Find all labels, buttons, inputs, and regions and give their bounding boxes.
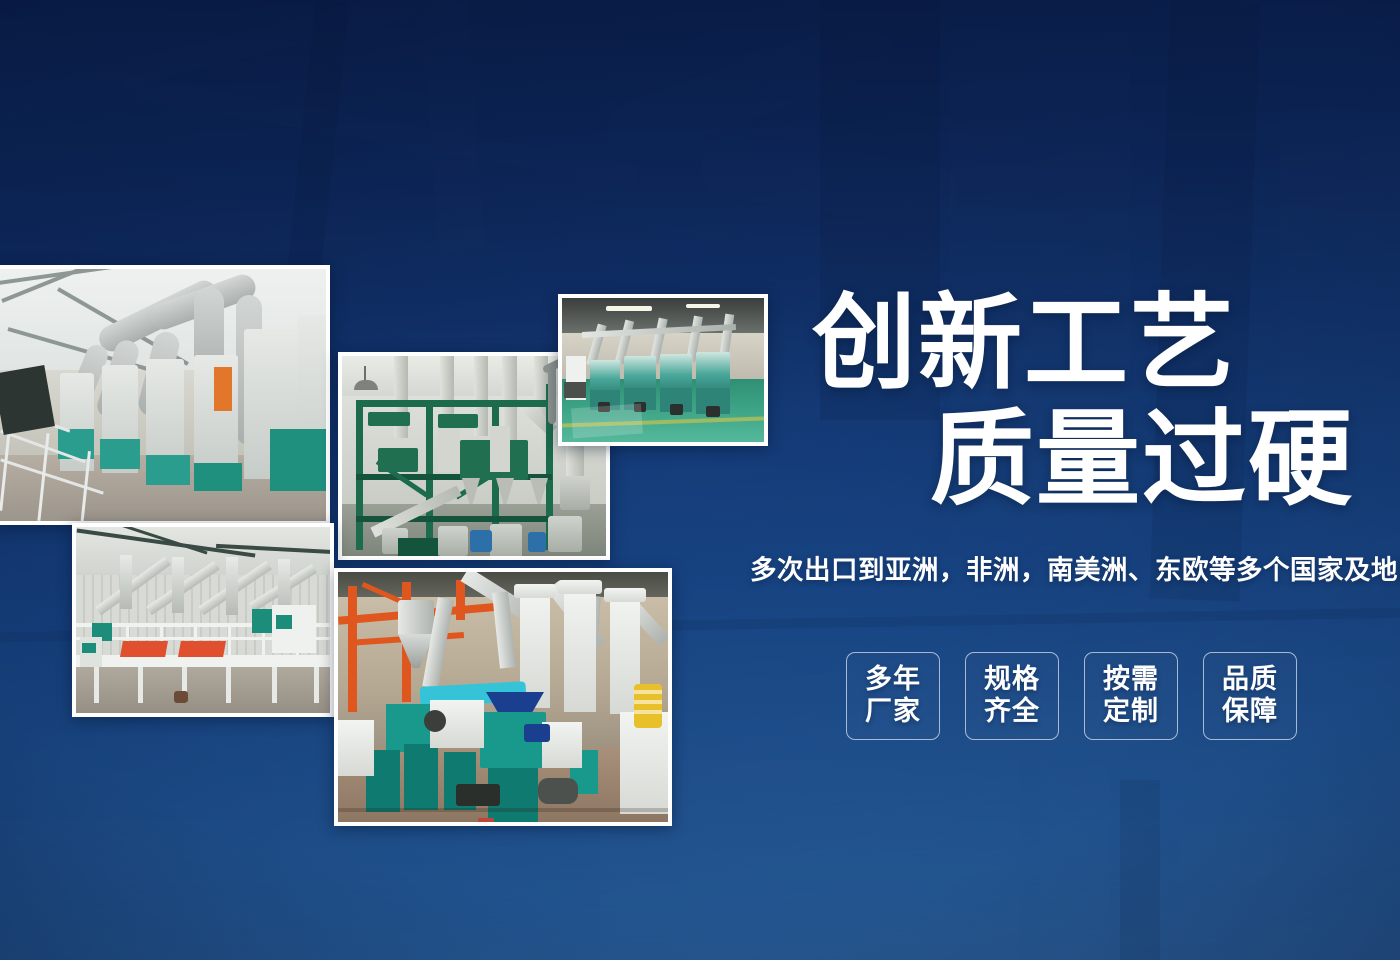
photo-main-line	[0, 265, 330, 525]
badge-line-2: 齐全	[984, 696, 1040, 728]
badge-line-1: 品质	[1222, 664, 1278, 696]
photo-teal-plant	[334, 568, 672, 826]
promotional-banner: 创新工艺 质量过硬 多次出口到亚洲，非洲，南美洲、东欧等多个国家及地区 多年 厂…	[0, 0, 1400, 960]
badge-line-1: 多年	[865, 664, 921, 696]
headline-line-2: 质量过硬	[930, 406, 1400, 512]
subtitle-export-regions: 多次出口到亚洲，非洲，南美洲、东欧等多个国家及地区	[750, 548, 1400, 587]
headline-block: 创新工艺 质量过硬 多次出口到亚洲，非洲，南美洲、东欧等多个国家及地区	[740, 290, 1400, 587]
badge-quality-assurance[interactable]: 品质 保障	[1203, 652, 1297, 740]
badge-line-1: 规格	[984, 664, 1040, 696]
photo-conveyor	[72, 523, 334, 717]
badge-line-1: 按需	[1103, 664, 1159, 696]
feature-badge-list: 多年 厂家 规格 齐全 按需 定制 品质 保障	[846, 652, 1297, 740]
badge-full-specifications[interactable]: 规格 齐全	[965, 652, 1059, 740]
badge-custom-on-demand[interactable]: 按需 定制	[1084, 652, 1178, 740]
badge-line-2: 保障	[1222, 696, 1278, 728]
photo-green-floor	[558, 294, 768, 446]
badge-multi-year-manufacturer[interactable]: 多年 厂家	[846, 652, 940, 740]
headline-line-1: 创新工艺	[812, 290, 1400, 396]
badge-line-2: 厂家	[865, 696, 921, 728]
badge-line-2: 定制	[1103, 696, 1159, 728]
